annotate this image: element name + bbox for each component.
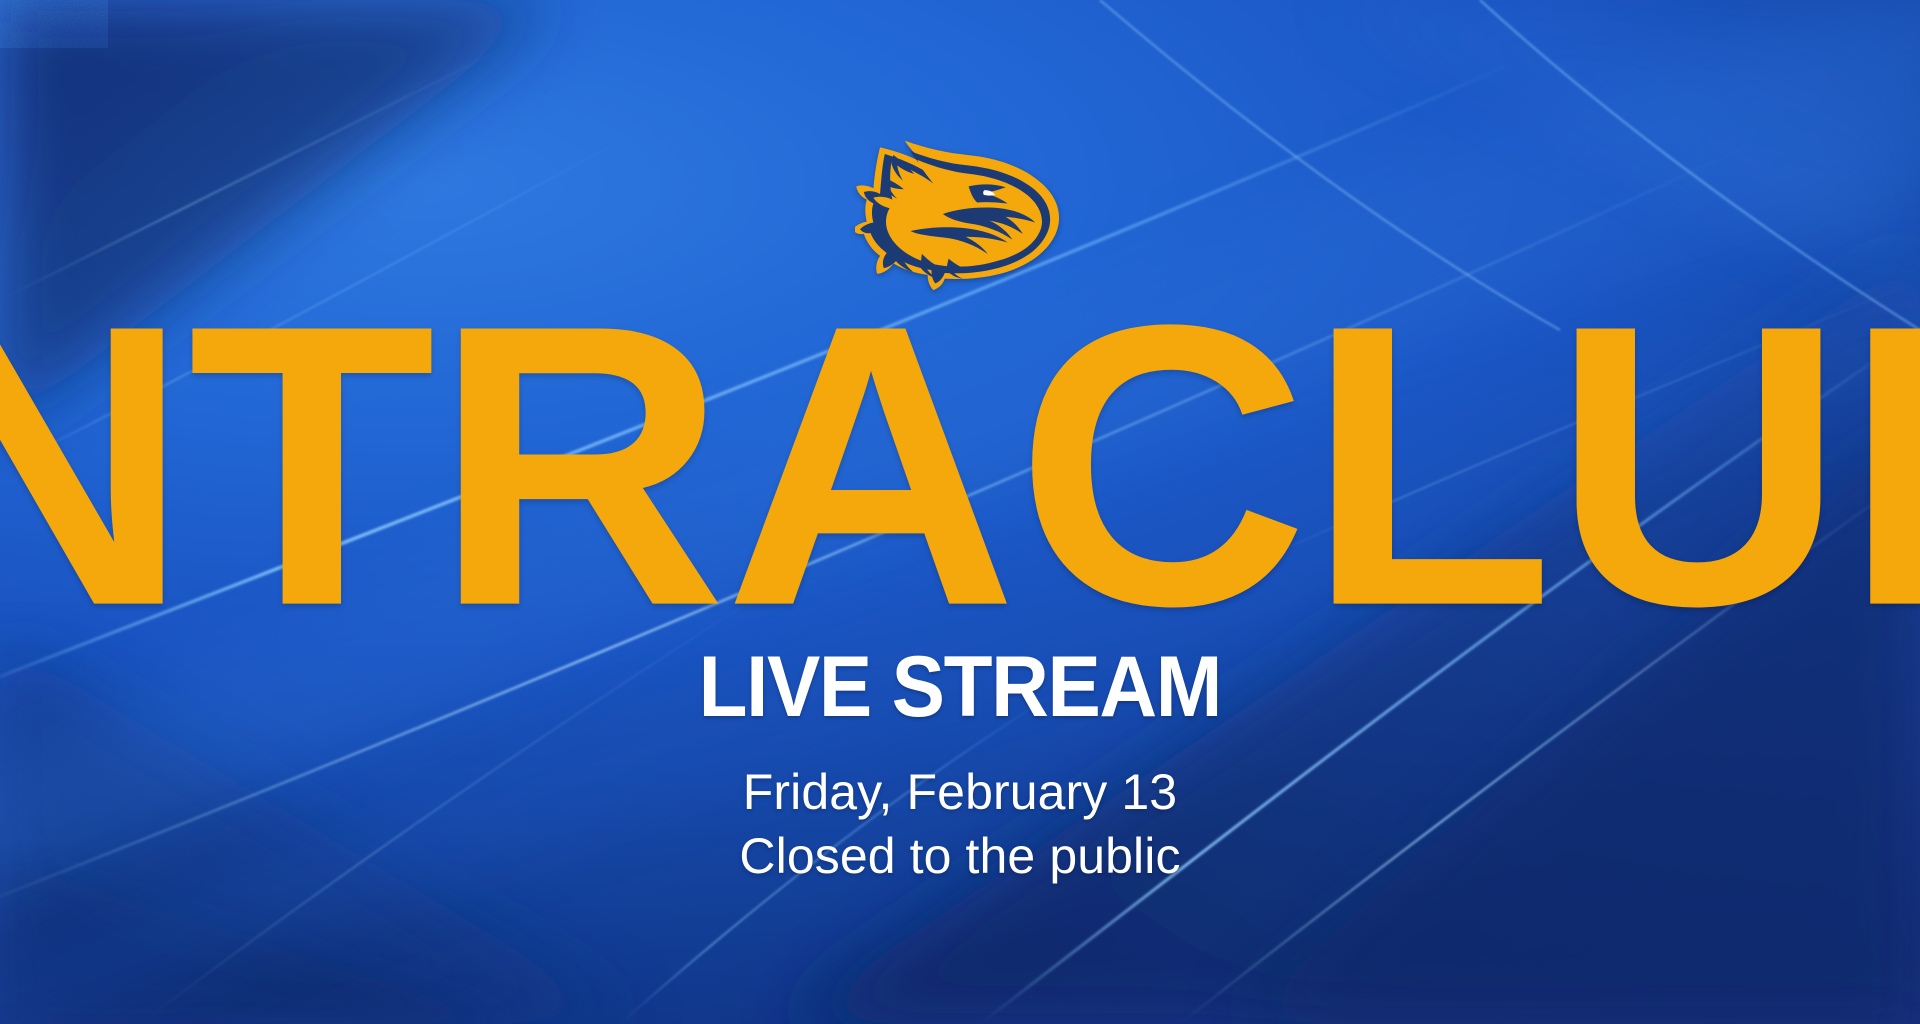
- page-title: INTRACLUB: [0, 318, 1920, 614]
- subtitle: LIVE STREAM: [699, 644, 1221, 730]
- event-access-note: Closed to the public: [739, 824, 1180, 888]
- event-details: Friday, February 13 Closed to the public: [739, 760, 1180, 888]
- promo-poster: INTRACLUB LIVE STREAM Friday, February 1…: [0, 0, 1920, 1024]
- poster-content: INTRACLUB LIVE STREAM Friday, February 1…: [0, 0, 1920, 1024]
- event-date: Friday, February 13: [739, 760, 1180, 824]
